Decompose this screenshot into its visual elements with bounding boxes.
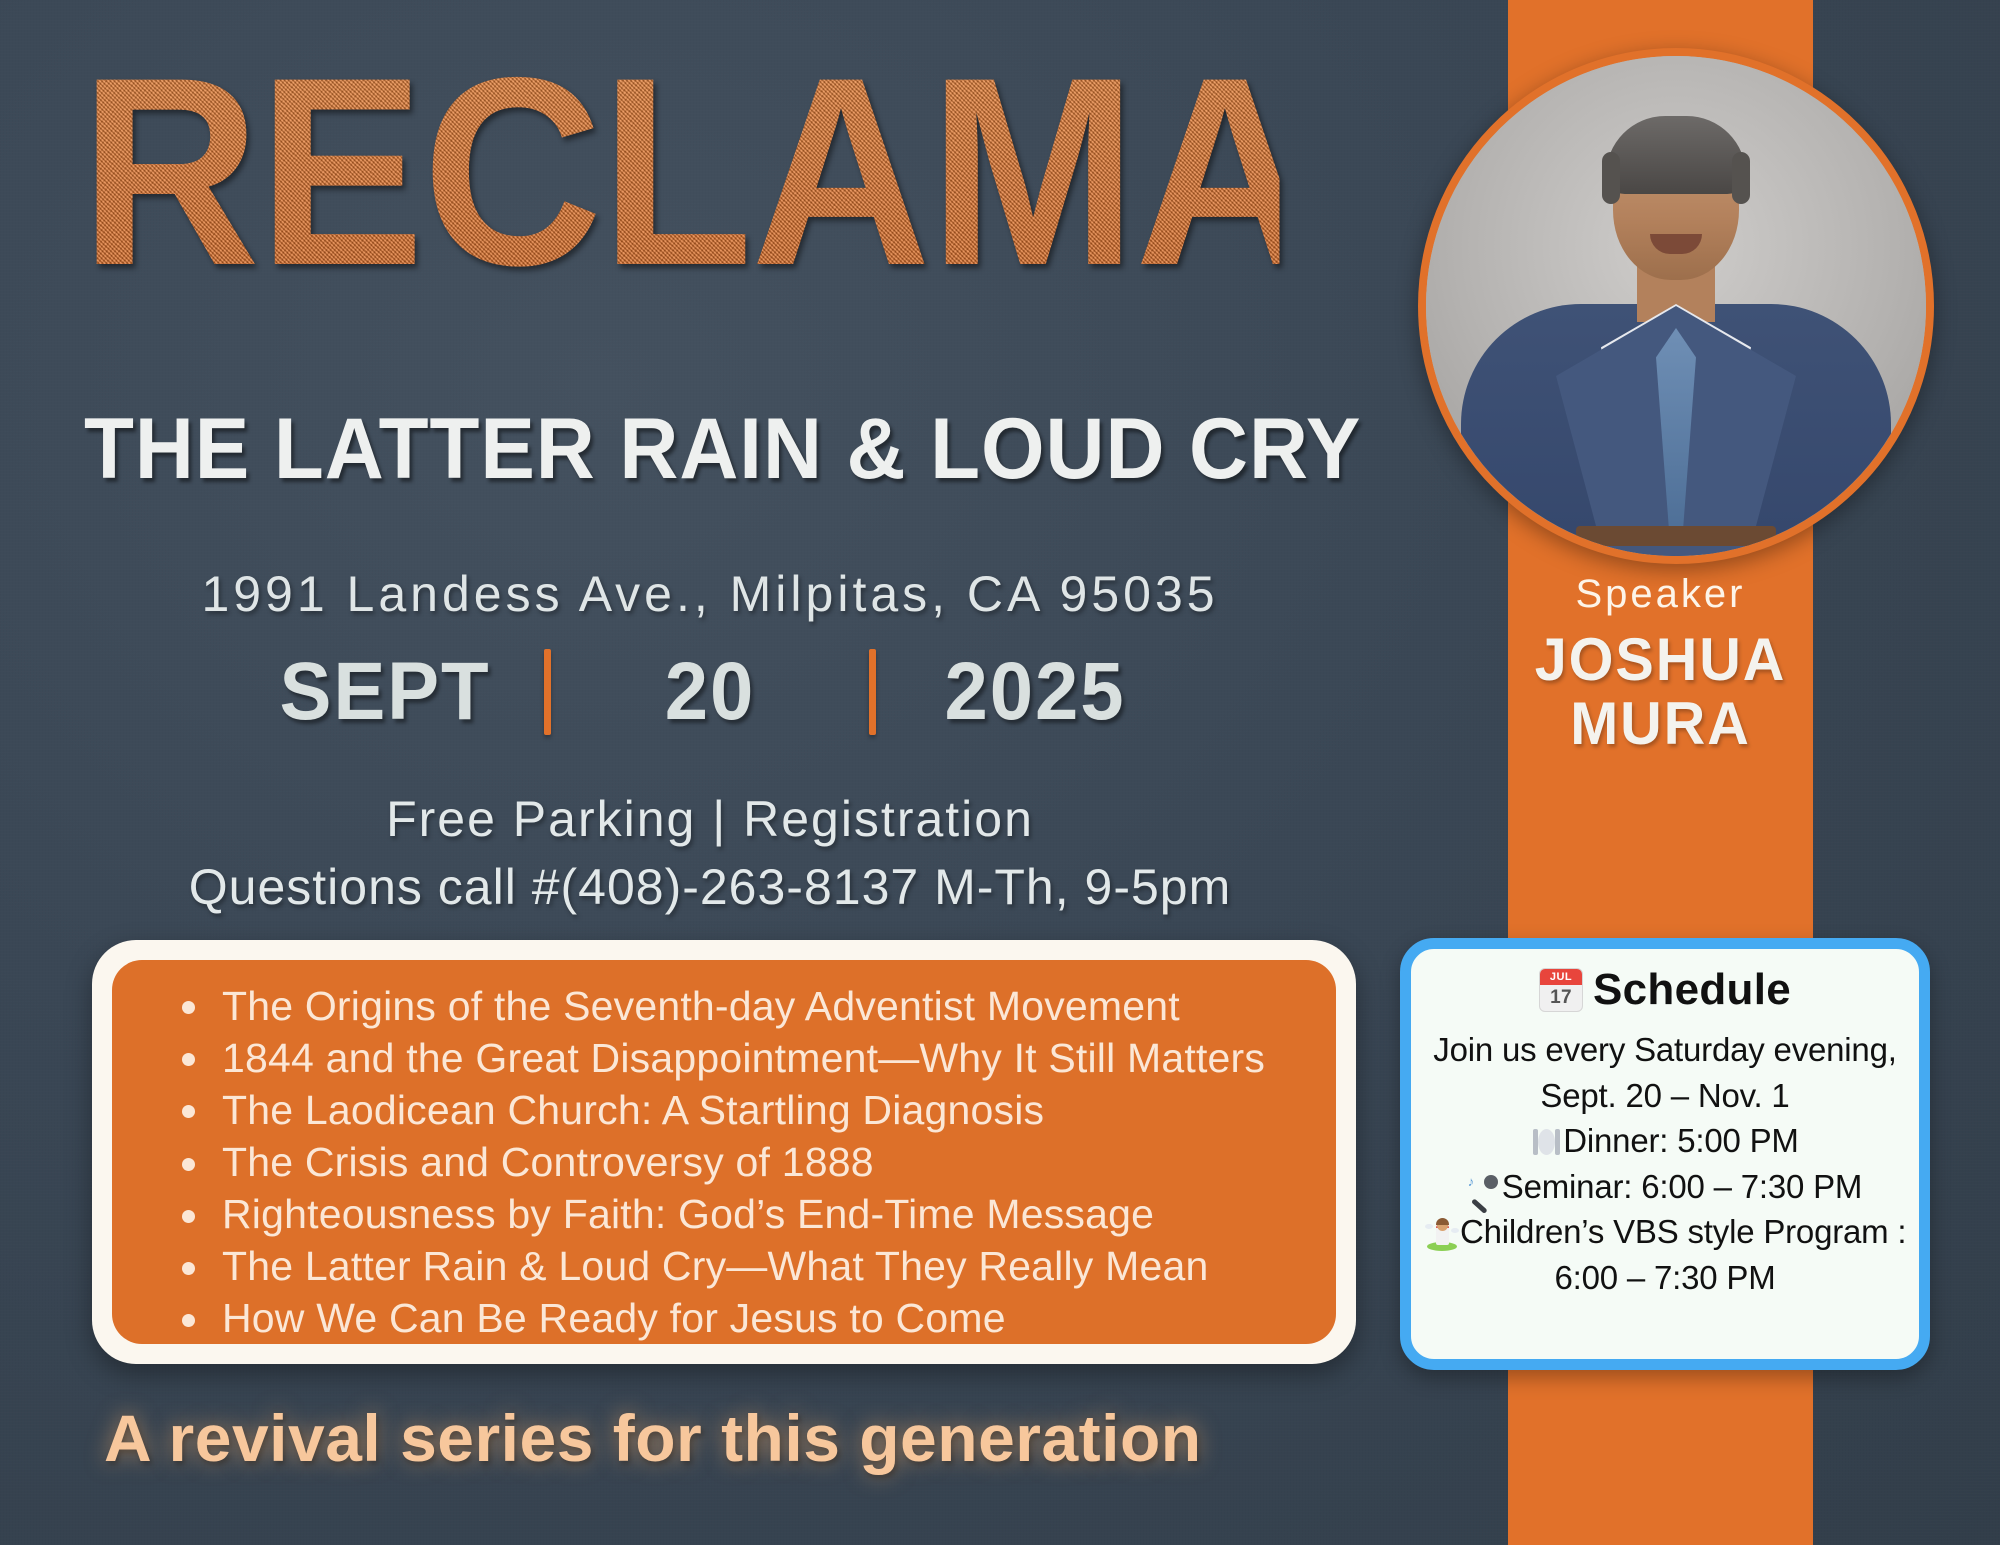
children-program-icon (1425, 1217, 1459, 1251)
dinner-icon (1531, 1127, 1561, 1157)
date-day: 20 (591, 645, 829, 739)
topics-card: The Origins of the Seventh-day Adventist… (92, 940, 1356, 1364)
revival-tagline: A revival series for this generation (104, 1400, 1364, 1476)
schedule-line-children: Children’s VBS style Program : (1425, 1209, 1905, 1255)
flyer-canvas: RECLAMATION THE LATTER RAIN & LOUD CRY 1… (0, 0, 2000, 1545)
bullet-icon (182, 1262, 195, 1275)
topic-text: How We Can Be Ready for Jesus to Come (222, 1295, 1006, 1341)
calendar-icon-day: 17 (1540, 985, 1582, 1011)
date-year: 2025 (916, 645, 1154, 739)
event-address: 1991 Landess Ave., Milpitas, CA 95035 (0, 565, 1420, 623)
seminar-text: Seminar: 6:00 – 7:30 PM (1502, 1168, 1862, 1205)
list-item: Righteousness by Faith: God’s End-Time M… (168, 1188, 1286, 1240)
topic-text: The Laodicean Church: A Startling Diagno… (222, 1087, 1044, 1133)
schedule-title-row: JUL 17 Schedule (1425, 965, 1905, 1015)
topic-text: 1844 and the Great Disappointment—Why It… (222, 1035, 1265, 1081)
calendar-icon: JUL 17 (1539, 968, 1583, 1012)
schedule-card: JUL 17 Schedule Join us every Saturday e… (1400, 938, 1930, 1370)
schedule-line-seminar: ♪Seminar: 6:00 – 7:30 PM (1425, 1164, 1905, 1210)
schedule-line-range: Sept. 20 – Nov. 1 (1425, 1073, 1905, 1119)
topics-list: The Origins of the Seventh-day Adventist… (112, 980, 1336, 1344)
speaker-first-name: JOSHUA (1514, 628, 1807, 692)
topic-text: Righteousness by Faith: God’s End-Time M… (222, 1191, 1154, 1237)
dinner-text: Dinner: 5:00 PM (1563, 1122, 1798, 1159)
bullet-icon (182, 1158, 195, 1171)
speaker-label: Speaker (1508, 572, 1813, 617)
schedule-line-children-time: 6:00 – 7:30 PM (1425, 1255, 1905, 1301)
children-text: Children’s VBS style Program : (1460, 1213, 1906, 1250)
list-item: 1844 and the Great Disappointment—Why It… (168, 1032, 1286, 1084)
list-item: The Crisis and Controversy of 1888 (168, 1136, 1286, 1188)
topics-inner: The Origins of the Seventh-day Adventist… (112, 960, 1336, 1344)
page-subtitle: THE LATTER RAIN & LOUD CRY (84, 400, 1319, 499)
schedule-title: Schedule (1593, 965, 1791, 1015)
calendar-icon-month: JUL (1540, 969, 1582, 985)
list-item: The Origins of the Seventh-day Adventist… (168, 980, 1286, 1032)
bullet-icon (182, 1210, 195, 1223)
date-divider-1 (544, 649, 551, 735)
microphone-icon: ♪ (1468, 1173, 1500, 1203)
bullet-icon (182, 1314, 195, 1327)
speaker-name: JOSHUA MURA (1514, 628, 1807, 756)
speaker-last-name: MURA (1514, 692, 1807, 756)
topic-text: The Latter Rain & Loud Cry—What They Rea… (222, 1243, 1208, 1289)
topic-text: The Origins of the Seventh-day Adventist… (222, 983, 1180, 1029)
date-month: SEPT (266, 645, 504, 739)
contact-phone-line: Questions call #(408)-263-8137 M-Th, 9-5… (0, 858, 1420, 916)
page-title: RECLAMATION (80, 48, 1280, 295)
list-item: The Laodicean Church: A Startling Diagno… (168, 1084, 1286, 1136)
parking-registration-line: Free Parking | Registration (0, 790, 1420, 848)
list-item: The Latter Rain & Loud Cry—What They Rea… (168, 1240, 1286, 1292)
event-date-bar: SEPT 20 2025 (0, 645, 1420, 739)
topic-text: The Crisis and Controversy of 1888 (222, 1139, 874, 1185)
date-divider-2 (869, 649, 876, 735)
bullet-icon (182, 1105, 195, 1118)
schedule-line-dinner: Dinner: 5:00 PM (1425, 1118, 1905, 1164)
list-item: How We Can Be Ready for Jesus to Come (168, 1292, 1286, 1344)
bullet-icon (182, 1001, 195, 1014)
bullet-icon (182, 1053, 195, 1066)
schedule-line-when: Join us every Saturday evening, (1425, 1027, 1905, 1073)
